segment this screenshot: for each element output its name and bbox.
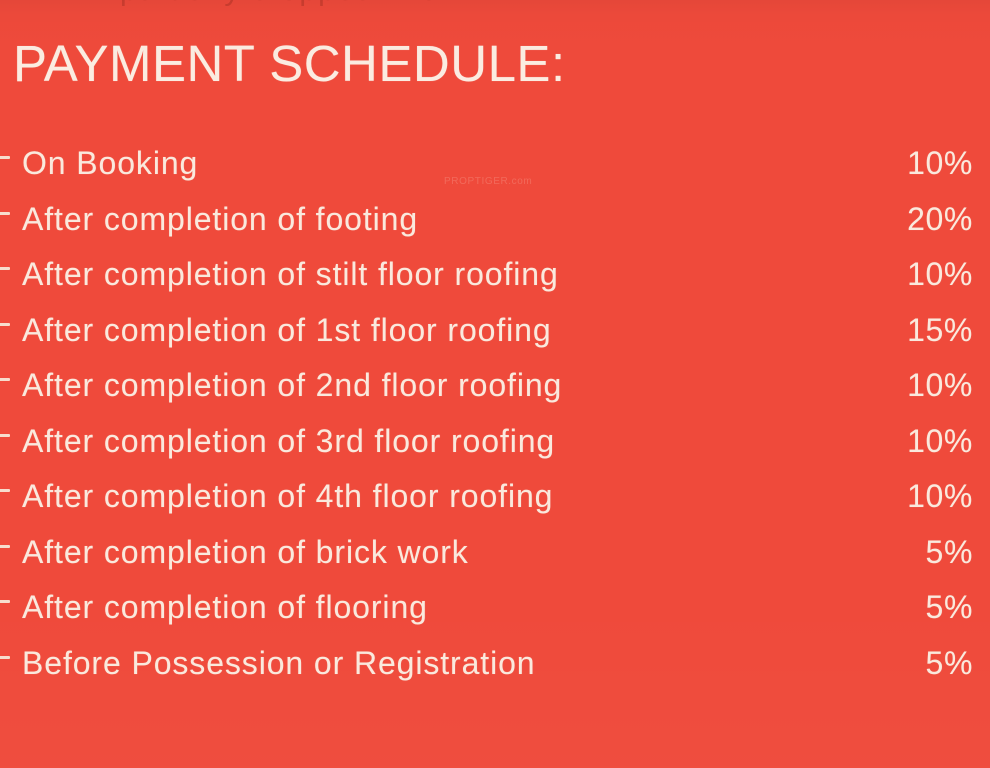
cropped-text-ghost: partially cropped line	[120, 0, 439, 8]
schedule-row-label: After completion of brick work	[0, 533, 469, 571]
schedule-row: After completion of brick work5%	[0, 533, 990, 589]
dash-bullet-icon	[0, 545, 10, 548]
schedule-row: After completion of 1st floor roofing15%	[0, 311, 990, 367]
schedule-row: After completion of 3rd floor roofing10%	[0, 422, 990, 478]
schedule-row-percentage: 10%	[907, 144, 973, 182]
schedule-row-label: On Booking	[0, 144, 198, 182]
page-title: PAYMENT SCHEDULE:	[13, 38, 566, 89]
schedule-row-label: Before Possession or Registration	[0, 644, 536, 682]
schedule-row-percentage: 10%	[907, 255, 973, 293]
schedule-row-label: After completion of stilt floor roofing	[0, 255, 559, 293]
schedule-row-label: After completion of flooring	[0, 588, 428, 626]
schedule-row-percentage: 5%	[926, 644, 973, 682]
schedule-row-label: After completion of 4th floor roofing	[0, 477, 553, 515]
dash-bullet-icon	[0, 489, 10, 492]
cropped-text-band: partially cropped line	[0, 0, 990, 11]
schedule-row-percentage: 5%	[926, 533, 973, 571]
schedule-row-percentage: 10%	[907, 366, 973, 404]
dash-bullet-icon	[0, 267, 10, 270]
schedule-row: On Booking10%	[0, 144, 990, 200]
schedule-row-percentage: 10%	[907, 477, 973, 515]
dash-bullet-icon	[0, 434, 10, 437]
schedule-row-label: After completion of 1st floor roofing	[0, 311, 552, 349]
schedule-row-label: After completion of footing	[0, 200, 418, 238]
schedule-row: After completion of flooring5%	[0, 588, 990, 644]
schedule-row: After completion of 2nd floor roofing10%	[0, 366, 990, 422]
dash-bullet-icon	[0, 378, 10, 381]
payment-schedule-list: On Booking10%After completion of footing…	[0, 144, 990, 699]
dash-bullet-icon	[0, 212, 10, 215]
schedule-row-percentage: 10%	[907, 422, 973, 460]
schedule-row-percentage: 20%	[907, 200, 973, 238]
dash-bullet-icon	[0, 323, 10, 326]
schedule-row-percentage: 15%	[907, 311, 973, 349]
schedule-row: After completion of footing20%	[0, 200, 990, 256]
dash-bullet-icon	[0, 656, 10, 659]
schedule-row-label: After completion of 3rd floor roofing	[0, 422, 555, 460]
dash-bullet-icon	[0, 600, 10, 603]
schedule-row-percentage: 5%	[926, 588, 973, 626]
schedule-row: After completion of 4th floor roofing10%	[0, 477, 990, 533]
schedule-row: Before Possession or Registration5%	[0, 644, 990, 700]
schedule-row: After completion of stilt floor roofing1…	[0, 255, 990, 311]
schedule-row-label: After completion of 2nd floor roofing	[0, 366, 562, 404]
payment-schedule-poster: partially cropped line PAYMENT SCHEDULE:…	[0, 0, 990, 768]
dash-bullet-icon	[0, 156, 10, 159]
